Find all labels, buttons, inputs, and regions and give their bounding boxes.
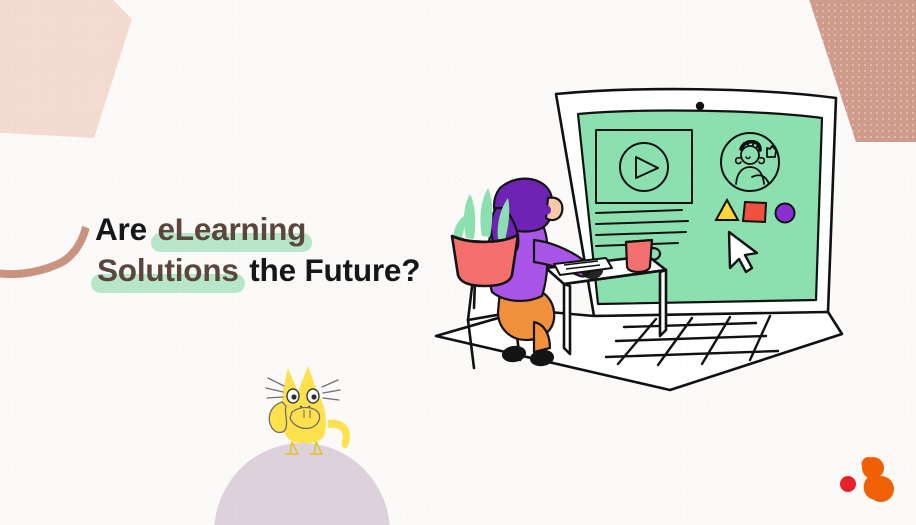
headline-word-solutions: Solutions [95,252,241,288]
headline-line-1: Are eLearning [95,209,475,250]
headline-line-2: Solutions the Future? [95,250,475,291]
headline-words-the-future: the Future? [241,252,421,288]
thinking-cat-icon [248,354,360,466]
page-title: Are eLearning Solutions the Future? [95,209,475,291]
brand-logo[interactable] [837,451,895,503]
headline-word-elearning: eLearning [155,211,308,247]
hero-banner: Are eLearning Solutions the Future? [0,0,916,525]
headline-word-are: Are [95,211,155,247]
